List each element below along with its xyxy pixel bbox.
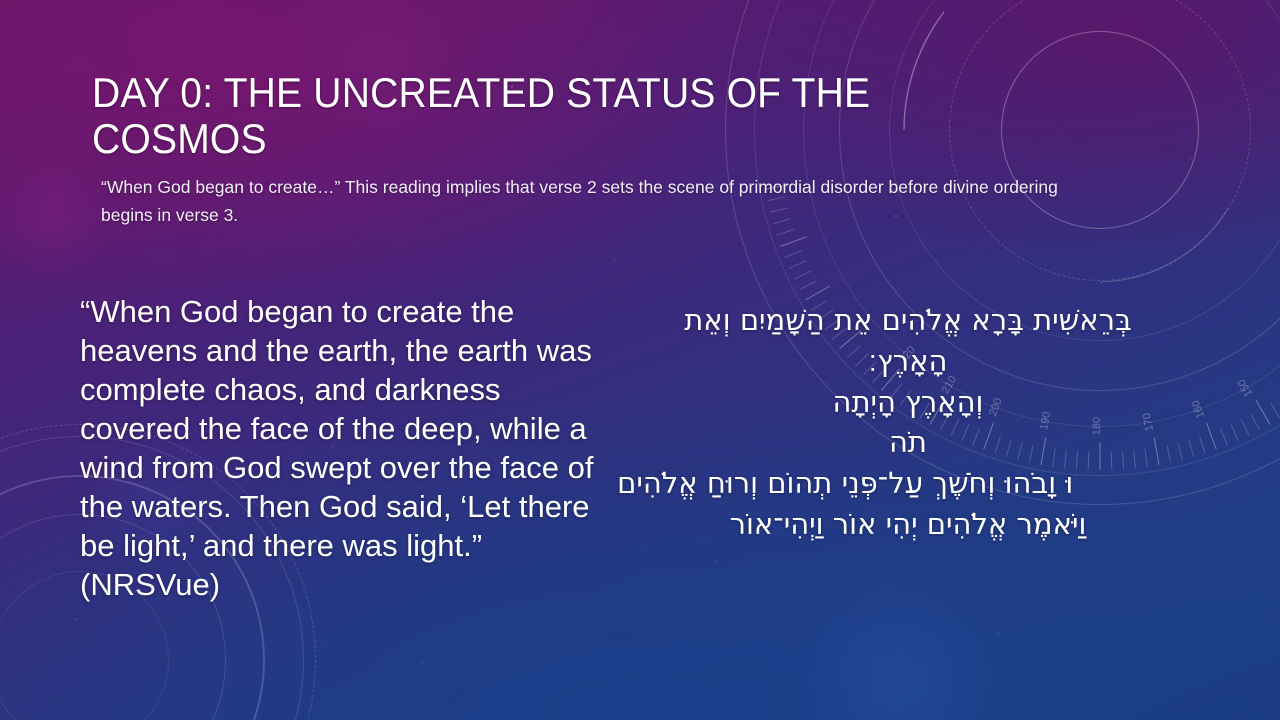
svg-text:170: 170 <box>1141 412 1156 432</box>
slide-subtitle: “When God began to create…” This reading… <box>101 173 1096 230</box>
dial-ring-dotted-inner <box>889 0 1280 341</box>
svg-text:160: 160 <box>1190 398 1208 419</box>
svg-text:200: 200 <box>987 396 1005 417</box>
svg-text:220: 220 <box>897 344 918 366</box>
svg-text:150: 150 <box>1236 377 1256 399</box>
hebrew-line-1: בְּרֵאשִׁית בָּרָא אֱלֹהִים אֵת הַשָׁמַי… <box>608 300 1208 341</box>
svg-text:190: 190 <box>1038 411 1053 431</box>
english-quote-text: “When God began to create the heavens an… <box>80 292 595 604</box>
dial-arc-small <box>1100 208 1228 282</box>
slide: 150160170180190200210220 Day 0: The Uncr… <box>0 0 1280 720</box>
hebrew-text-block: בְּרֵאשִׁית בָּרָא אֱלֹהִים אֵת הַשָׁמַי… <box>608 300 1208 545</box>
slide-title: Day 0: The Uncreated Status of the Cosmo… <box>92 70 1022 162</box>
hebrew-text-clip-region: בְּרֵאשִׁית בָּרָא אֱלֹהִים אֵת הַשָׁמַי… <box>608 300 1208 640</box>
hebrew-line-5: וּ וָבֹהוּ וְחֹשֶׁךְ עַל־פְּנֵי תְהוֹם ו… <box>608 463 1208 504</box>
hebrew-line-4: תֹה <box>608 422 1208 463</box>
hebrew-line-3: וְהָאָרֶץ הָיְתָה <box>608 382 1208 423</box>
hebrew-line-6: וַיֹּאמֶר אֱלֹהִים יְהִי אוֹר וַיְהִי־או… <box>608 504 1208 545</box>
hebrew-line-2: הָאָרֶץ׃ <box>608 341 1208 382</box>
svg-text:210: 210 <box>940 374 960 396</box>
svg-text:180: 180 <box>1091 417 1103 435</box>
